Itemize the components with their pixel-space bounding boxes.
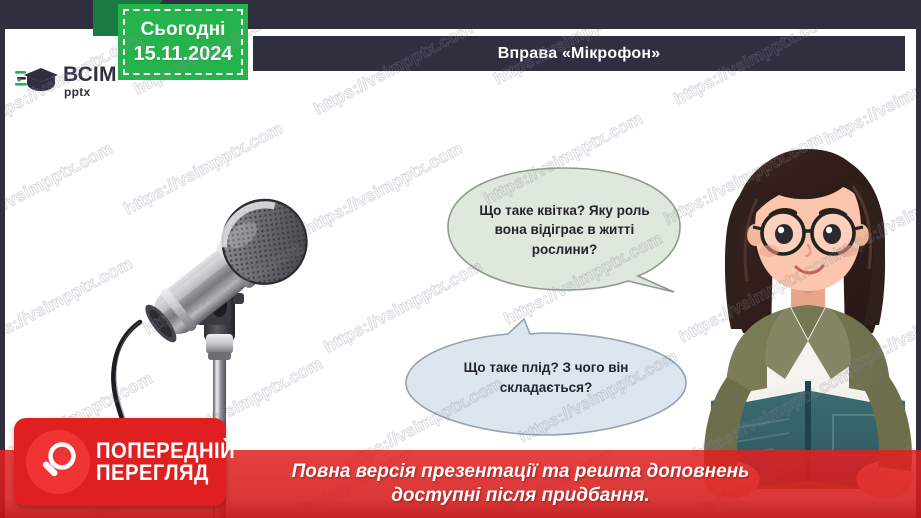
logo-secondary-text: pptx — [64, 86, 117, 98]
page-title: Вправа «Мікрофон» — [498, 45, 661, 63]
bubble-1-text: Що таке квітка? Яку роль вона відіграє в… — [442, 201, 687, 260]
speech-bubble-question-2: Що таке плід? З чого він складається? — [400, 317, 692, 439]
today-date-badge: Сьогодні 15.11.2024 — [118, 4, 248, 80]
bubble-2-text: Що таке плід? З чого він складається? — [400, 358, 692, 397]
speech-bubble-question-1: Що таке квітка? Яку роль вона відіграє в… — [442, 165, 687, 295]
graduation-cap-icon — [15, 64, 59, 98]
magnifier-icon — [36, 440, 80, 484]
slide-canvas: Що таке квітка? Яку роль вона відіграє в… — [5, 29, 916, 518]
magnifier-icon-circle — [26, 430, 90, 494]
preview-badge-line2: ПЕРЕГЛЯД — [96, 462, 235, 484]
banner-line-2: доступні після придбання. — [391, 485, 650, 506]
slide-root: Що таке квітка? Яку роль вона відіграє в… — [0, 0, 921, 518]
date-badge-label: Сьогодні — [141, 19, 226, 41]
preview-badge[interactable]: ПОПЕРЕДНІЙ ПЕРЕГЛЯД — [14, 418, 226, 506]
logo-primary-text: ВСІМ — [63, 64, 117, 85]
banner-line-1: Повна версія презентації та решта доповн… — [292, 461, 750, 482]
preview-badge-line1: ПОПЕРЕДНІЙ — [96, 440, 235, 462]
slide-header-bar: Вправа «Мікрофон» — [253, 36, 905, 71]
brand-logo[interactable]: ВСІМ pptx — [15, 59, 135, 103]
date-badge-value: 15.11.2024 — [134, 43, 233, 66]
